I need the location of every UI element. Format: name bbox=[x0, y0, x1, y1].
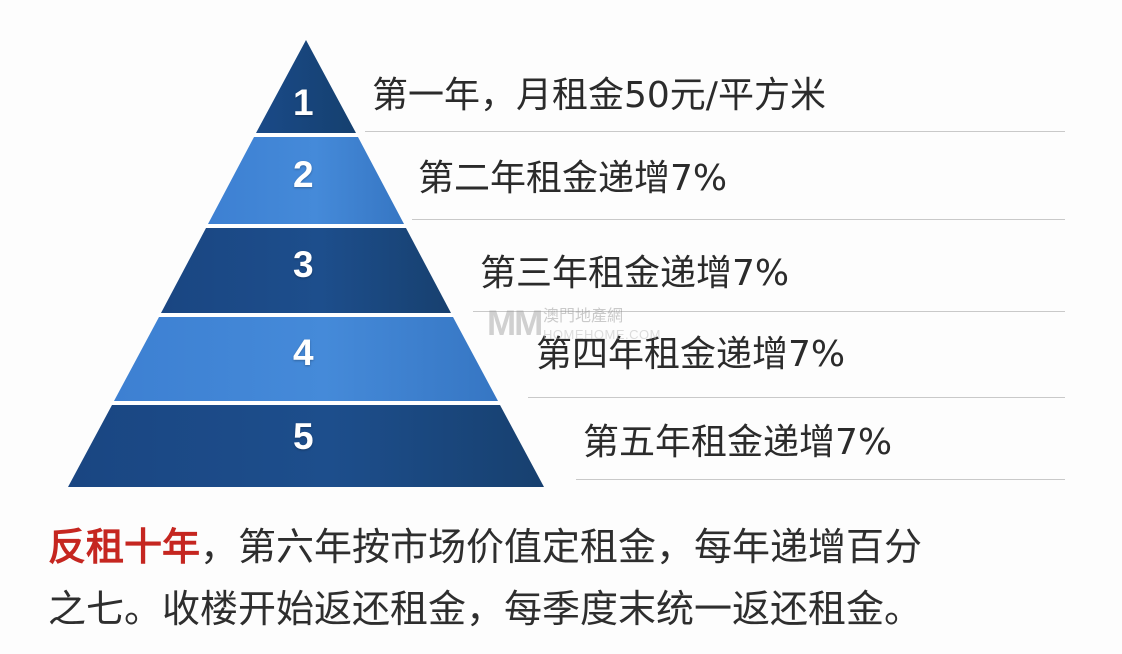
legend-row-3-text: 第三年租金递增7% bbox=[480, 256, 789, 292]
footer-highlight-text: 反租十年 bbox=[48, 525, 200, 569]
legend-row-4-rule bbox=[528, 397, 1065, 398]
legend-row-4-text: 第四年租金递增7% bbox=[536, 337, 845, 373]
footer-paragraph: 反租十年，第六年按市场价值定租金，每年递增百分 之七。收楼开始返还租金，每季度末… bbox=[48, 516, 1083, 640]
pyramid-legend-rows: 第一年，月租金50元/平方米 第二年租金递增7% 第三年租金递增7% 第四年租金… bbox=[0, 0, 1122, 500]
legend-row-3-rule bbox=[473, 311, 1065, 312]
legend-row-1-text: 第一年，月租金50元/平方米 bbox=[372, 78, 826, 114]
pyramid-infographic: 1 2 3 4 5 第一年，月租金50元/平方米 第二年租金递增7% 第三年租金… bbox=[0, 0, 1122, 654]
footer-line-2: 之七。收楼开始返还租金，每季度末统一返还租金。 bbox=[48, 578, 1083, 640]
footer-line-1: 反租十年，第六年按市场价值定租金，每年递增百分 bbox=[48, 516, 1083, 578]
legend-row-2-rule bbox=[412, 219, 1065, 220]
legend-row-1-rule bbox=[365, 131, 1065, 132]
legend-row-2-text: 第二年租金递增7% bbox=[418, 161, 727, 197]
legend-row-5-text: 第五年租金递增7% bbox=[583, 425, 892, 461]
legend-row-5-rule bbox=[576, 479, 1065, 480]
footer-line-1-rest: ，第六年按市场价值定租金，每年递增百分 bbox=[200, 525, 922, 569]
